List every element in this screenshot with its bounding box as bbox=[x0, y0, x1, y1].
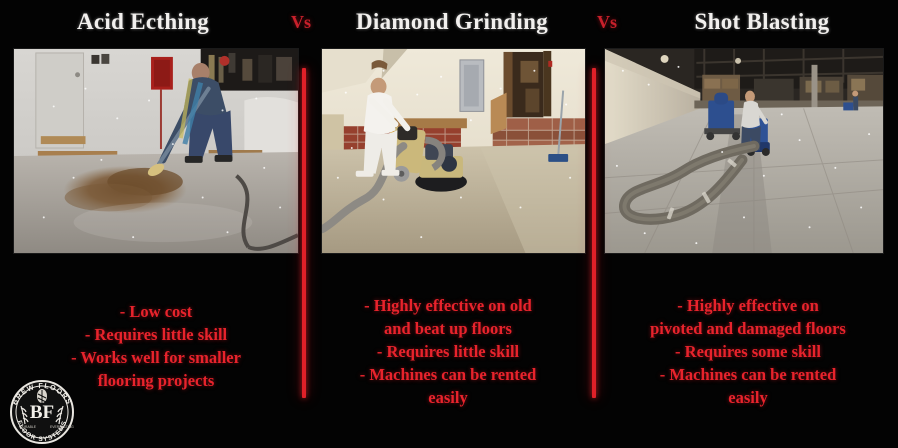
acid-etching-illustration bbox=[14, 49, 298, 253]
bullets-acid-etching: - Low cost - Requires little skill - Wor… bbox=[18, 258, 294, 392]
logo-right-small-text: EVERLASTING bbox=[50, 425, 74, 429]
header-cell-shot-blasting: Shot Blasting bbox=[626, 0, 898, 44]
diamond-grinding-illustration bbox=[322, 49, 585, 253]
vs-separator-1: Vs bbox=[286, 0, 316, 44]
logo-badge-icon: BF BREW FLOORS FLOOR SYSTEMS DURABLE EVE… bbox=[4, 374, 80, 446]
bullet-list-shot-blasting: - Highly effective on pivoted and damage… bbox=[604, 294, 892, 409]
photo-shot-blasting bbox=[604, 48, 884, 254]
vs-separator-2: Vs bbox=[588, 0, 626, 44]
comparison-infographic: Acid Ecthing Vs Diamond Grinding Vs Shot… bbox=[0, 0, 898, 448]
shot-blasting-illustration bbox=[605, 49, 883, 253]
logo-monogram: BF bbox=[30, 402, 54, 423]
header-cell-acid-etching: Acid Ecthing bbox=[0, 0, 286, 44]
bullets-shot-blasting: - Highly effective on pivoted and damage… bbox=[604, 258, 892, 409]
page-title-acid-etching: Acid Ecthing bbox=[77, 9, 209, 35]
vs-label-1: Vs bbox=[291, 12, 311, 33]
bullet-columns: - Low cost - Requires little skill - Wor… bbox=[0, 258, 898, 448]
page-title-shot-blasting: Shot Blasting bbox=[695, 9, 830, 35]
brew-floors-logo: BF BREW FLOORS FLOOR SYSTEMS DURABLE EVE… bbox=[4, 374, 80, 446]
bullets-diamond-grinding: - Highly effective on old and beat up fl… bbox=[312, 258, 584, 409]
photo-diamond-grinding bbox=[321, 48, 586, 254]
logo-left-small-text: DURABLE bbox=[20, 425, 37, 429]
header-cell-diamond-grinding: Diamond Grinding bbox=[316, 0, 588, 44]
photo-acid-etching bbox=[13, 48, 299, 254]
page-title-diamond-grinding: Diamond Grinding bbox=[356, 9, 548, 35]
header-row: Acid Ecthing Vs Diamond Grinding Vs Shot… bbox=[0, 0, 898, 44]
vs-label-2: Vs bbox=[597, 12, 617, 33]
photo-row bbox=[0, 44, 898, 256]
bullet-list-diamond-grinding: - Highly effective on old and beat up fl… bbox=[312, 294, 584, 409]
